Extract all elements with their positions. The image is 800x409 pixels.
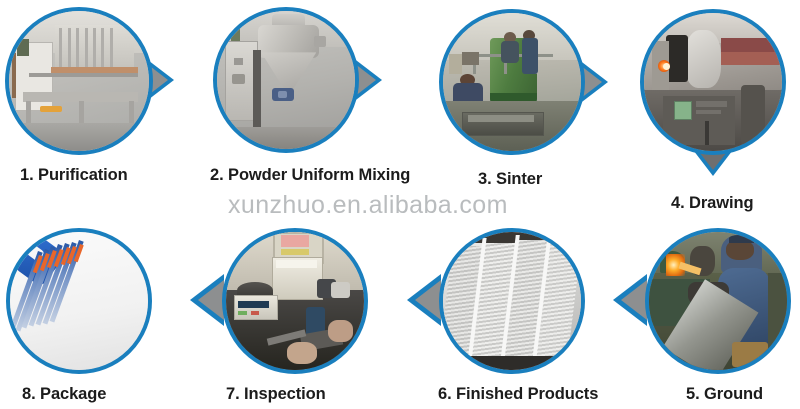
finished-products-photo[interactable]: [439, 228, 585, 374]
watermark-text: xunzhuo.en.alibaba.com: [228, 191, 508, 220]
purification-photo[interactable]: [5, 7, 153, 155]
inspection-photo[interactable]: [222, 228, 368, 374]
drawing-photo[interactable]: [640, 9, 786, 155]
step-1-label: 1. Purification: [20, 166, 128, 185]
sinter-photo[interactable]: [439, 9, 585, 155]
arrow-left-fill: [415, 280, 441, 320]
step-2-label: 2. Powder Uniform Mixing: [210, 166, 410, 185]
step-4-label: 4. Drawing: [671, 194, 753, 213]
powder-uniform-mixing-photo[interactable]: [213, 7, 359, 153]
package-photo[interactable]: [6, 228, 152, 374]
ground-photo[interactable]: [645, 228, 791, 374]
production-flow-diagram: 1. Purification 2. Powder Uniform: [0, 0, 800, 409]
step-5-label: 5. Ground: [686, 385, 763, 404]
step-3-label: 3. Sinter: [478, 170, 542, 189]
step-8-label: 8. Package: [22, 385, 106, 404]
arrow-left-fill: [621, 280, 647, 320]
step-6-label: 6. Finished Products: [438, 385, 598, 404]
step-7-label: 7. Inspection: [226, 385, 326, 404]
arrow-left-fill: [198, 280, 224, 320]
